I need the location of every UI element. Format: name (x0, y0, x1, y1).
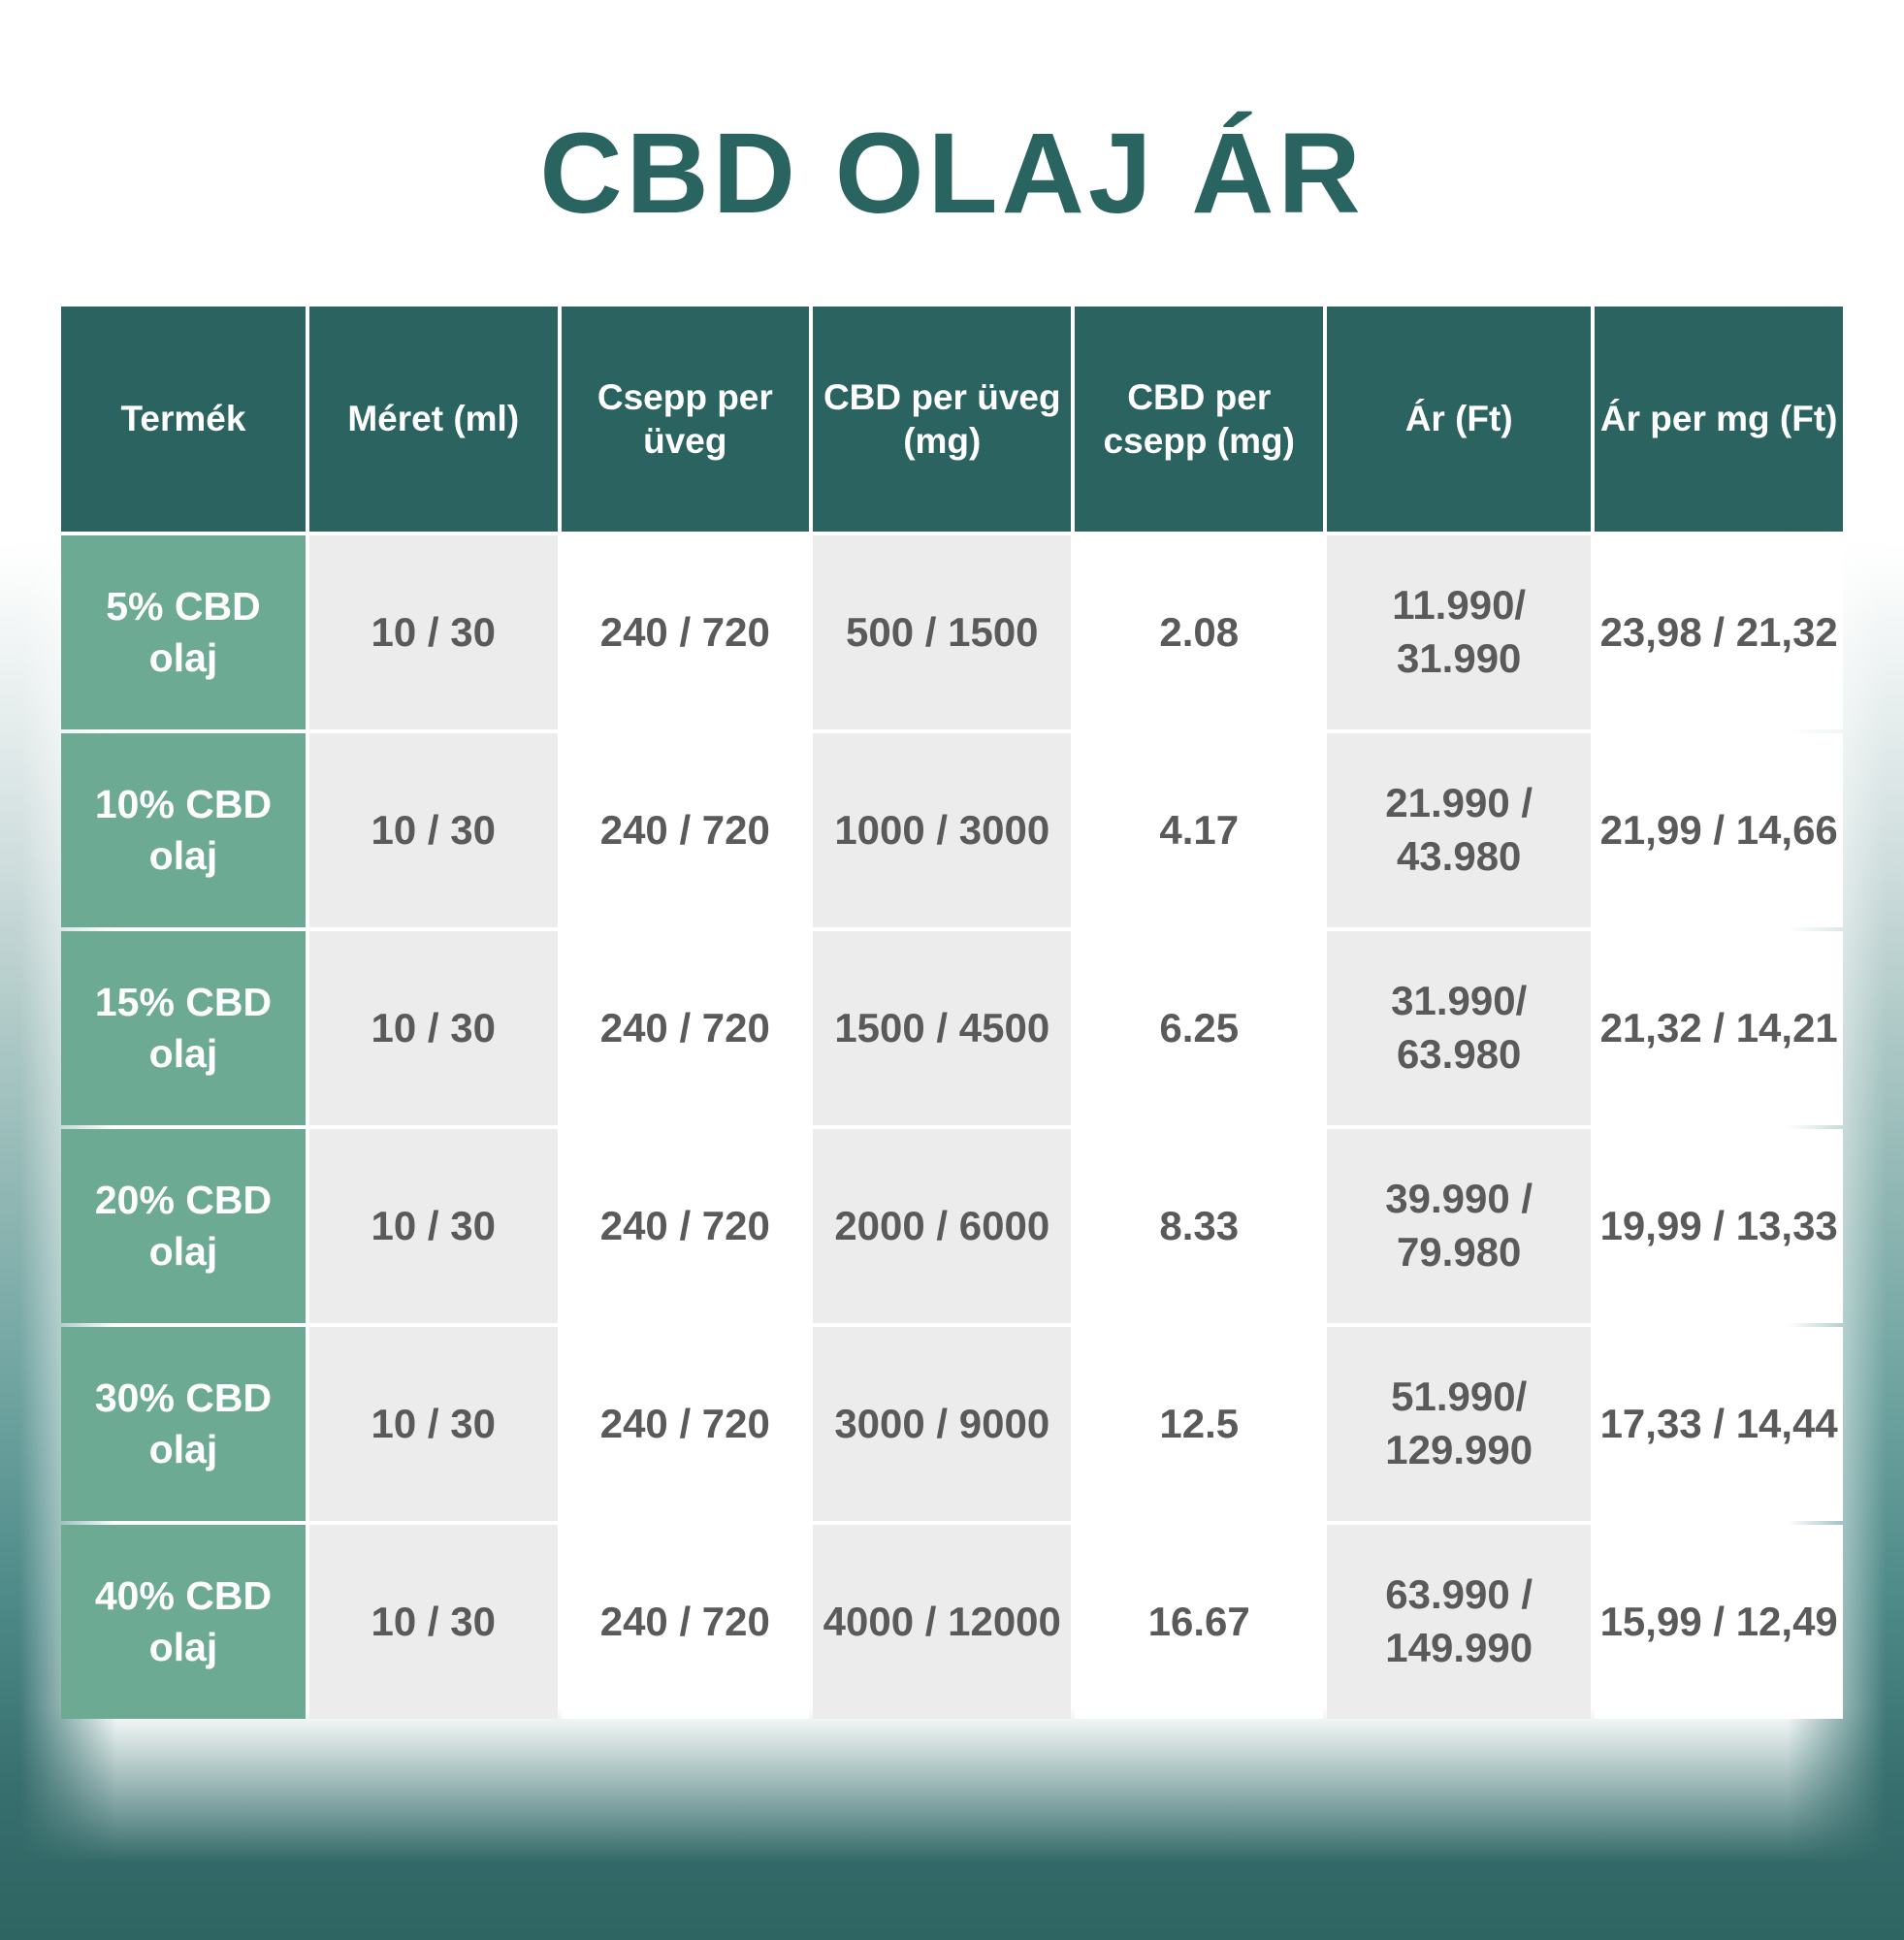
column-header-cbd-per-drop: CBD per csepp (mg) (1075, 307, 1323, 532)
cell-price: 31.990/ 63.980 (1327, 931, 1591, 1125)
cell-cbd-per-drop: 8.33 (1075, 1129, 1323, 1323)
cell-size: 10 / 30 (309, 1525, 558, 1719)
cell-price-per-mg: 19,99 / 13,33 (1595, 1129, 1843, 1323)
cell-product: 15% CBD olaj (61, 931, 306, 1125)
cell-cbd-per-bottle: 1000 / 3000 (813, 733, 1071, 927)
table-body: 5% CBD olaj 10 / 30 240 / 720 500 / 1500… (61, 535, 1843, 1719)
cell-cbd-per-bottle: 4000 / 12000 (813, 1525, 1071, 1719)
cell-product: 40% CBD olaj (61, 1525, 306, 1719)
cell-product: 10% CBD olaj (61, 733, 306, 927)
cell-cbd-per-bottle: 500 / 1500 (813, 535, 1071, 729)
cell-drops-per-bottle: 240 / 720 (562, 931, 810, 1125)
cell-cbd-per-drop: 4.17 (1075, 733, 1323, 927)
page-title: CBD OLAJ ÁR (0, 0, 1904, 231)
column-header-price-per-mg: Ár per mg (Ft) (1595, 307, 1843, 532)
cell-price-per-mg: 21,32 / 14,21 (1595, 931, 1843, 1125)
column-header-cbd-per-bottle: CBD per üveg (mg) (813, 307, 1071, 532)
cell-cbd-per-drop: 6.25 (1075, 931, 1323, 1125)
column-header-size: Méret (ml) (309, 307, 558, 532)
page-content: CBD OLAJ ÁR Termék Méret (ml) Csepp per … (0, 0, 1904, 1723)
cell-cbd-per-drop: 2.08 (1075, 535, 1323, 729)
cell-cbd-per-drop: 12.5 (1075, 1327, 1323, 1521)
column-header-drops-per-bottle: Csepp per üveg (562, 307, 810, 532)
cell-cbd-per-drop: 16.67 (1075, 1525, 1323, 1719)
table-header: Termék Méret (ml) Csepp per üveg CBD per… (61, 307, 1843, 532)
cell-drops-per-bottle: 240 / 720 (562, 1129, 810, 1323)
cell-cbd-per-bottle: 3000 / 9000 (813, 1327, 1071, 1521)
table-row: 10% CBD olaj 10 / 30 240 / 720 1000 / 30… (61, 733, 1843, 927)
cell-price-per-mg: 17,33 / 14,44 (1595, 1327, 1843, 1521)
cell-price-per-mg: 23,98 / 21,32 (1595, 535, 1843, 729)
cell-product: 30% CBD olaj (61, 1327, 306, 1521)
cell-drops-per-bottle: 240 / 720 (562, 535, 810, 729)
cell-drops-per-bottle: 240 / 720 (562, 1327, 810, 1521)
cell-size: 10 / 30 (309, 1129, 558, 1323)
cell-cbd-per-bottle: 2000 / 6000 (813, 1129, 1071, 1323)
column-header-price: Ár (Ft) (1327, 307, 1591, 532)
cell-price: 21.990 / 43.980 (1327, 733, 1591, 927)
table-row: 5% CBD olaj 10 / 30 240 / 720 500 / 1500… (61, 535, 1843, 729)
cell-product: 5% CBD olaj (61, 535, 306, 729)
cell-price: 63.990 / 149.990 (1327, 1525, 1591, 1719)
cell-drops-per-bottle: 240 / 720 (562, 733, 810, 927)
cell-price-per-mg: 21,99 / 14,66 (1595, 733, 1843, 927)
cell-product: 20% CBD olaj (61, 1129, 306, 1323)
price-table-container: Termék Méret (ml) Csepp per üveg CBD per… (57, 303, 1847, 1723)
table-row: 15% CBD olaj 10 / 30 240 / 720 1500 / 45… (61, 931, 1843, 1125)
table-header-row: Termék Méret (ml) Csepp per üveg CBD per… (61, 307, 1843, 532)
cell-cbd-per-bottle: 1500 / 4500 (813, 931, 1071, 1125)
cell-price: 51.990/ 129.990 (1327, 1327, 1591, 1521)
table-row: 20% CBD olaj 10 / 30 240 / 720 2000 / 60… (61, 1129, 1843, 1323)
cbd-price-table: Termék Méret (ml) Csepp per üveg CBD per… (57, 303, 1847, 1723)
cell-price: 11.990/ 31.990 (1327, 535, 1591, 729)
table-row: 30% CBD olaj 10 / 30 240 / 720 3000 / 90… (61, 1327, 1843, 1521)
cell-drops-per-bottle: 240 / 720 (562, 1525, 810, 1719)
column-header-product: Termék (61, 307, 306, 532)
cell-size: 10 / 30 (309, 931, 558, 1125)
cell-price: 39.990 / 79.980 (1327, 1129, 1591, 1323)
cell-size: 10 / 30 (309, 1327, 558, 1521)
cell-size: 10 / 30 (309, 535, 558, 729)
table-row: 40% CBD olaj 10 / 30 240 / 720 4000 / 12… (61, 1525, 1843, 1719)
cell-price-per-mg: 15,99 / 12,49 (1595, 1525, 1843, 1719)
cell-size: 10 / 30 (309, 733, 558, 927)
